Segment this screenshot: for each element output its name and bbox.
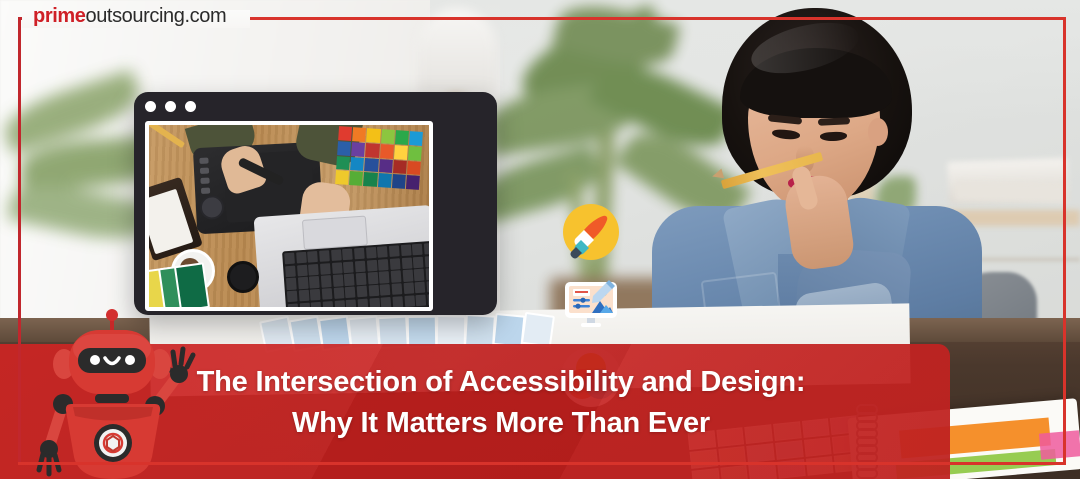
robot-eye-left-icon bbox=[90, 355, 100, 365]
frame-border-left bbox=[18, 17, 21, 465]
window-dot-icon bbox=[145, 101, 156, 112]
frame-border-right bbox=[1063, 17, 1066, 465]
laptop-keyboard bbox=[282, 241, 433, 311]
design-monitor-icon bbox=[559, 272, 623, 336]
camera-lens bbox=[227, 261, 259, 293]
robot-mascot bbox=[33, 308, 223, 479]
tablet-dial bbox=[199, 195, 224, 220]
logo-suffix: outsourcing.com bbox=[85, 5, 226, 27]
browser-window-mockup bbox=[134, 92, 497, 315]
notebook-pink-band bbox=[1039, 430, 1080, 459]
window-dot-icon bbox=[165, 101, 176, 112]
window-traffic-lights bbox=[145, 101, 196, 112]
window-dot-icon bbox=[185, 101, 196, 112]
logo-prefix: prime bbox=[33, 5, 85, 27]
antenna-bulb-icon bbox=[106, 309, 118, 321]
frame-border-top-right bbox=[248, 17, 1066, 20]
mockup-screen-photo bbox=[145, 121, 433, 311]
lamp-shade bbox=[418, 8, 496, 100]
clipboard-paper bbox=[145, 189, 193, 255]
ear bbox=[868, 118, 888, 146]
swatch-cards bbox=[145, 263, 202, 311]
hero-banner: The Intersection of Accessibility and De… bbox=[0, 0, 1080, 479]
laptop-trackpad bbox=[302, 216, 368, 250]
paint-brush-icon bbox=[559, 200, 623, 264]
robot-eye-right-icon bbox=[125, 355, 135, 365]
laptop bbox=[254, 205, 433, 311]
color-palette-swatches bbox=[335, 126, 423, 190]
site-logo[interactable]: primeoutsourcing.com bbox=[27, 5, 232, 28]
frame-border-bottom bbox=[18, 462, 1066, 465]
